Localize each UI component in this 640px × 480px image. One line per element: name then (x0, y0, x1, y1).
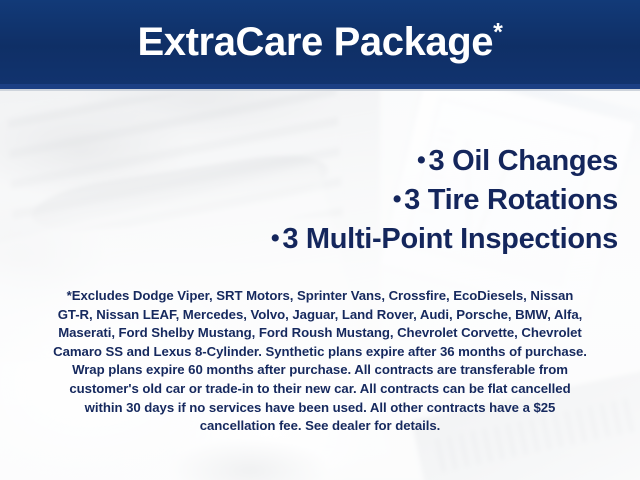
extracare-package-ad: ExtraCare Package* •3 Oil Changes •3 Tir… (0, 0, 640, 480)
disclaimer-line: cancellation fee. See dealer for details… (24, 417, 616, 436)
disclaimer-line: within 30 days if no services have been … (24, 399, 616, 418)
disclaimer-text: *Excludes Dodge Viper, SRT Motors, Sprin… (24, 287, 616, 436)
disclaimer-line: *Excludes Dodge Viper, SRT Motors, Sprin… (24, 287, 616, 306)
disclaimer-line: Camaro SS and Lexus 8-Cylinder. Syntheti… (24, 343, 616, 362)
benefit-item-label: 3 Multi-Point Inspections (282, 223, 618, 255)
disclaimer-line: customer's old car or trade-in to their … (24, 380, 616, 399)
page-title: ExtraCare Package* (137, 22, 502, 62)
disclaimer-line: Maserati, Ford Shelby Mustang, Ford Rous… (24, 324, 616, 343)
header-band: ExtraCare Package* (0, 0, 640, 84)
bullet-icon: • (417, 146, 425, 174)
disclaimer-line: GT-R, Nissan LEAF, Mercedes, Volvo, Jagu… (24, 306, 616, 325)
disclaimer-line: Wrap plans expire 60 months after purcha… (24, 361, 616, 380)
bullet-icon: • (271, 224, 279, 252)
benefit-item-label: 3 Tire Rotations (404, 184, 618, 216)
benefits-list: •3 Oil Changes •3 Tire Rotations •3 Mult… (0, 141, 640, 258)
content-area: •3 Oil Changes •3 Tire Rotations •3 Mult… (0, 91, 640, 480)
benefit-item: •3 Multi-Point Inspections (0, 219, 618, 258)
benefit-item: •3 Tire Rotations (0, 180, 618, 219)
page-title-text: ExtraCare Package (137, 20, 493, 64)
page-title-asterisk: * (493, 19, 502, 47)
benefit-item: •3 Oil Changes (0, 141, 618, 180)
benefit-item-label: 3 Oil Changes (429, 145, 619, 177)
bullet-icon: • (393, 185, 401, 213)
